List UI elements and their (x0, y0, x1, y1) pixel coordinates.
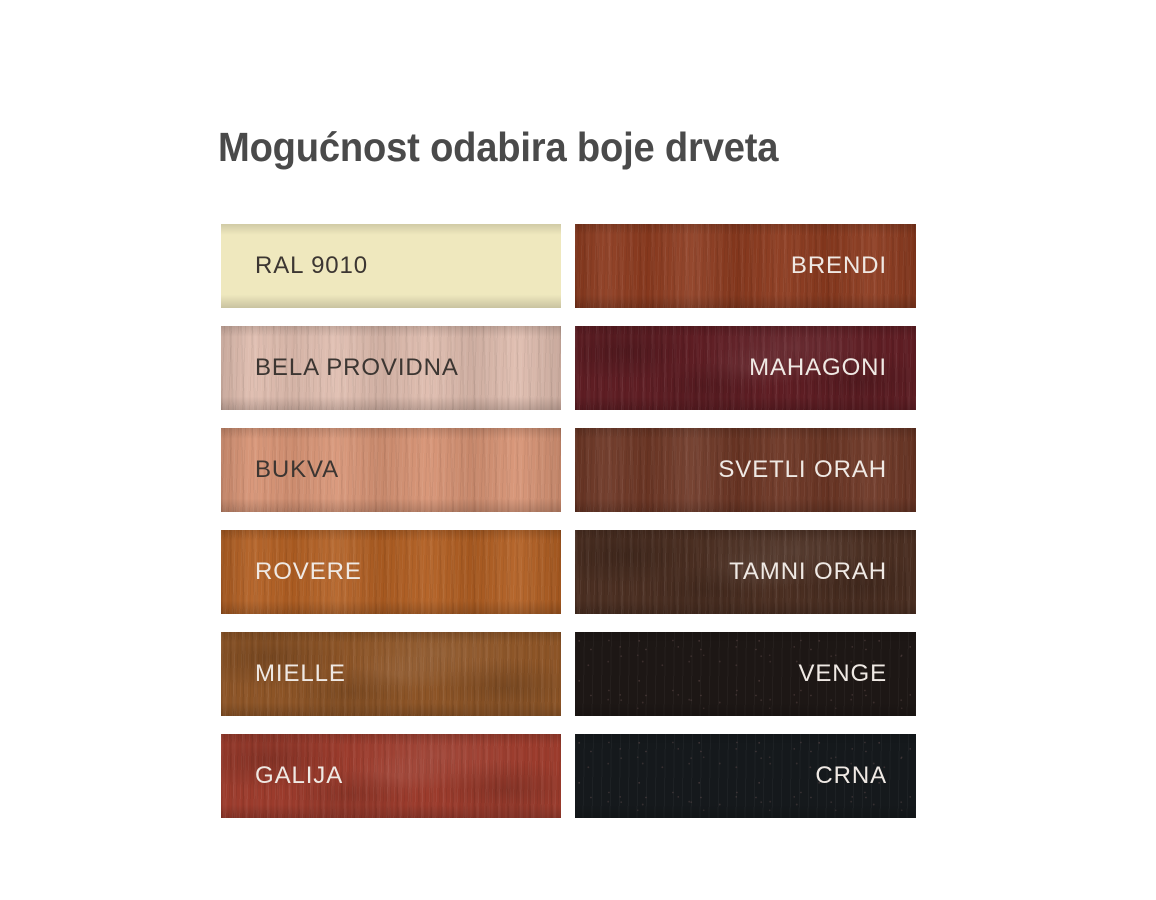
wood-color-swatch-grid: RAL 9010 BRENDI BELA PROVIDNA MAHAGONI B (221, 224, 916, 818)
swatch-brendi[interactable]: BRENDI (575, 224, 916, 308)
swatch-crna[interactable]: CRNA (575, 734, 916, 818)
swatch-label: CRNA (815, 762, 887, 790)
swatch-galija[interactable]: GALIJA (221, 734, 561, 818)
swatch-svetli-orah[interactable]: SVETLI ORAH (575, 428, 916, 512)
swatch-mahagoni[interactable]: MAHAGONI (575, 326, 916, 410)
swatch-label: MIELLE (255, 660, 346, 688)
swatch-label: MAHAGONI (749, 354, 887, 382)
swatch-venge[interactable]: VENGE (575, 632, 916, 716)
swatch-label: VENGE (798, 660, 887, 688)
swatch-label: BRENDI (791, 252, 887, 280)
swatch-label: TAMNI ORAH (729, 558, 887, 586)
swatch-bukva[interactable]: BUKVA (221, 428, 561, 512)
swatch-label: GALIJA (255, 762, 343, 790)
swatch-rovere[interactable]: ROVERE (221, 530, 561, 614)
page-title: Mogućnost odabira boje drveta (218, 124, 778, 171)
swatch-label: BUKVA (255, 456, 339, 484)
swatch-mielle[interactable]: MIELLE (221, 632, 561, 716)
swatch-label: BELA PROVIDNA (255, 354, 459, 382)
swatch-label: RAL 9010 (255, 252, 368, 280)
swatch-ral-9010[interactable]: RAL 9010 (221, 224, 561, 308)
swatch-label: ROVERE (255, 558, 362, 586)
color-selection-page: Mogućnost odabira boje drveta RAL 9010 B… (0, 0, 1156, 900)
swatch-bela-providna[interactable]: BELA PROVIDNA (221, 326, 561, 410)
swatch-label: SVETLI ORAH (718, 456, 887, 484)
swatch-tamni-orah[interactable]: TAMNI ORAH (575, 530, 916, 614)
